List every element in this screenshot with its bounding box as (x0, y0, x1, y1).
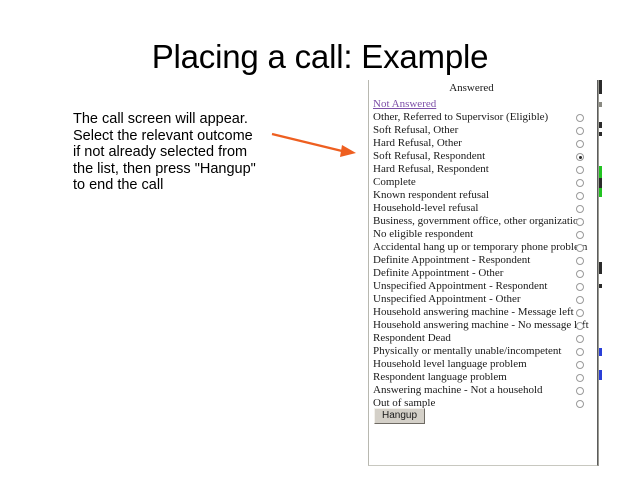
outcome-label: Household level language problem (373, 358, 527, 371)
outcome-label: Definite Appointment - Other (373, 267, 503, 280)
outcome-row[interactable]: No eligible respondent (369, 228, 597, 241)
answered-heading: Answered (369, 82, 574, 94)
outcome-row[interactable]: Soft Refusal, Other (369, 124, 597, 137)
outcome-row[interactable]: Business, government office, other organ… (369, 215, 597, 228)
outcome-radio-button[interactable] (576, 114, 584, 122)
slide-canvas: Placing a call: Example The call screen … (0, 0, 640, 480)
outcome-row[interactable]: Physically or mentally unable/incompeten… (369, 345, 597, 358)
outcome-radio-list: Other, Referred to Supervisor (Eligible)… (369, 111, 597, 410)
outcome-label: Complete (373, 176, 416, 189)
outcome-radio-button[interactable] (576, 192, 584, 200)
outcome-label: Hard Refusal, Respondent (373, 163, 489, 176)
hangup-button-area: Hangup (369, 408, 597, 428)
window-edge-mark (599, 132, 602, 136)
outcome-row[interactable]: Definite Appointment - Respondent (369, 254, 597, 267)
outcome-radio-button[interactable] (576, 309, 584, 317)
window-edge-mark (599, 178, 602, 188)
arrow-head (340, 145, 356, 157)
outcome-row[interactable]: Unspecified Appointment - Respondent (369, 280, 597, 293)
outcome-label: Household answering machine - Message le… (373, 306, 574, 319)
outcome-row[interactable]: Known respondent refusal (369, 189, 597, 202)
outcome-radio-button[interactable] (576, 361, 584, 369)
outcome-label: Unspecified Appointment - Respondent (373, 280, 547, 293)
outcome-label: Definite Appointment - Respondent (373, 254, 530, 267)
window-edge-mark (599, 80, 602, 94)
caption-line: the list, then press "Hangup" (73, 161, 278, 178)
caption-text-block: The call screen will appear. Select the … (73, 111, 278, 194)
window-edge-mark (599, 348, 602, 356)
not-answered-link[interactable]: Not Answered (373, 98, 436, 110)
outcome-row[interactable]: Respondent language problem (369, 371, 597, 384)
outcome-radio-button[interactable] (576, 166, 584, 174)
window-edge-mark (599, 370, 602, 380)
outcome-row[interactable]: Other, Referred to Supervisor (Eligible) (369, 111, 597, 124)
window-edge-mark (599, 284, 602, 288)
window-edge-mark (599, 262, 602, 274)
outcome-row[interactable]: Soft Refusal, Respondent (369, 150, 597, 163)
outcome-label: Respondent language problem (373, 371, 507, 384)
outcome-label: Unspecified Appointment - Other (373, 293, 521, 306)
caption-line: to end the call (73, 177, 278, 194)
outcome-label: Physically or mentally unable/incompeten… (373, 345, 561, 358)
outcome-radio-button[interactable] (576, 179, 584, 187)
outcome-radio-button[interactable] (576, 218, 584, 226)
outcome-row[interactable]: Household level language problem (369, 358, 597, 371)
outcome-row[interactable]: Complete (369, 176, 597, 189)
outcome-row[interactable]: Unspecified Appointment - Other (369, 293, 597, 306)
outcome-row[interactable]: Household-level refusal (369, 202, 597, 215)
outcome-radio-button[interactable] (576, 231, 584, 239)
arrow-shaft (272, 134, 342, 151)
outcome-radio-button[interactable] (576, 400, 584, 408)
outcome-radio-button[interactable] (576, 244, 584, 252)
outcome-label: No eligible respondent (373, 228, 473, 241)
hangup-button[interactable]: Hangup (374, 408, 425, 424)
caption-line: Select the relevant outcome (73, 128, 278, 145)
outcome-label: Accidental hang up or temporary phone pr… (373, 241, 587, 254)
outcome-radio-button[interactable] (576, 270, 584, 278)
outcome-label: Answering machine - Not a household (373, 384, 543, 397)
outcome-label: Household answering machine - No message… (373, 319, 589, 332)
window-edge-mark (599, 122, 602, 128)
outcome-radio-button[interactable] (576, 374, 584, 382)
window-edge-mark (599, 188, 602, 197)
outcome-row[interactable]: Hard Refusal, Respondent (369, 163, 597, 176)
page-title: Placing a call: Example (0, 38, 640, 76)
outcome-radio-button[interactable] (576, 127, 584, 135)
outcome-radio-button[interactable] (576, 257, 584, 265)
outcome-label: Soft Refusal, Respondent (373, 150, 485, 163)
outcome-row[interactable]: Household answering machine - Message le… (369, 306, 597, 319)
window-edge-mark (599, 166, 602, 178)
outcome-radio-button[interactable] (576, 322, 584, 330)
outcome-radio-button[interactable] (576, 296, 584, 304)
outcome-radio-button[interactable] (576, 387, 584, 395)
outcome-radio-button[interactable] (576, 140, 584, 148)
caption-line: The call screen will appear. (73, 111, 278, 128)
outcome-row[interactable]: Accidental hang up or temporary phone pr… (369, 241, 597, 254)
outcome-row[interactable]: Answering machine - Not a household (369, 384, 597, 397)
outcome-label: Hard Refusal, Other (373, 137, 462, 150)
arrow-pointer-icon (264, 120, 364, 162)
outcome-label: Business, government office, other organ… (373, 215, 584, 228)
outcome-row[interactable]: Household answering machine - No message… (369, 319, 597, 332)
outcome-label: Known respondent refusal (373, 189, 489, 202)
outcome-row[interactable]: Respondent Dead (369, 332, 597, 345)
outcome-radio-button[interactable] (576, 153, 584, 161)
outcome-radio-button[interactable] (576, 205, 584, 213)
outcome-row[interactable]: Hard Refusal, Other (369, 137, 597, 150)
adjacent-window-edge (598, 80, 640, 466)
outcome-label: Soft Refusal, Other (373, 124, 458, 137)
outcome-label: Respondent Dead (373, 332, 451, 345)
outcome-radio-button[interactable] (576, 283, 584, 291)
caption-line: if not already selected from (73, 144, 278, 161)
outcome-label: Household-level refusal (373, 202, 478, 215)
call-outcome-screen: Answered Not Answered Other, Referred to… (368, 80, 598, 466)
outcome-radio-button[interactable] (576, 335, 584, 343)
outcome-row[interactable]: Definite Appointment - Other (369, 267, 597, 280)
outcome-radio-button[interactable] (576, 348, 584, 356)
outcome-label: Other, Referred to Supervisor (Eligible) (373, 111, 548, 124)
window-edge-mark (599, 102, 602, 107)
